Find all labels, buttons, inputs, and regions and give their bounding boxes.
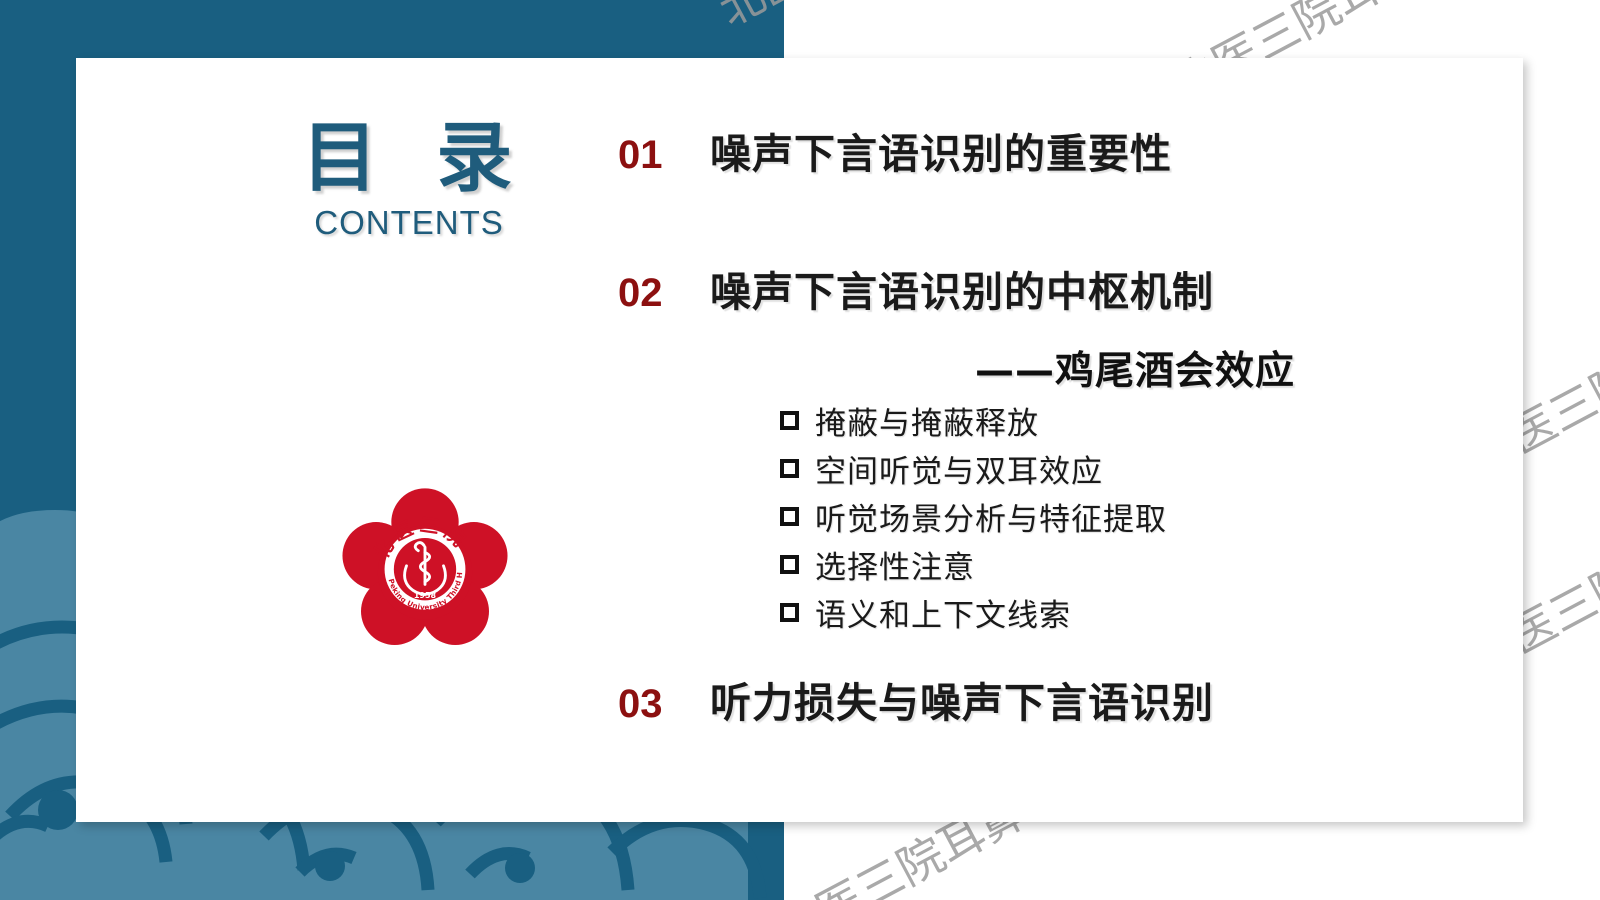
- list-item-label: 掩蔽与掩蔽释放: [815, 398, 1039, 443]
- toc-entry-02-subheading: ——鸡尾酒会效应: [975, 340, 1295, 396]
- toc-entry-number: 03: [618, 682, 710, 727]
- peking-university-third-hospital-logo-icon: 北医三院 Peking University Third Hospital 19…: [340, 485, 510, 645]
- list-item[interactable]: 掩蔽与掩蔽释放: [780, 396, 1167, 444]
- square-bullet-icon: [780, 603, 799, 622]
- list-item-label: 语义和上下文线索: [815, 590, 1071, 635]
- square-bullet-icon: [780, 459, 799, 478]
- square-bullet-icon: [780, 507, 799, 526]
- square-bullet-icon: [780, 411, 799, 430]
- page-subtitle: CONTENTS: [264, 204, 554, 242]
- list-item-label: 空间听觉与双耳效应: [815, 446, 1103, 491]
- square-bullet-icon: [780, 555, 799, 574]
- toc-entry-01[interactable]: 01 噪声下言语识别的重要性: [618, 120, 1172, 180]
- list-item[interactable]: 语义和上下文线索: [780, 588, 1167, 636]
- presentation-slide: 北医三院耳鼻喉科 北医三院耳鼻喉科 北医三院耳鼻喉科 北医三院耳鼻喉科 北医三院…: [0, 0, 1600, 900]
- toc-entry-label: 噪声下言语识别的中枢机制: [710, 258, 1214, 318]
- list-item-label: 听觉场景分析与特征提取: [815, 494, 1167, 539]
- toc-entry-number: 01: [618, 133, 710, 178]
- list-item[interactable]: 听觉场景分析与特征提取: [780, 492, 1167, 540]
- list-item-label: 选择性注意: [815, 542, 975, 587]
- toc-heading-block: 目 录 CONTENTS: [264, 118, 554, 242]
- list-item[interactable]: 选择性注意: [780, 540, 1167, 588]
- logo-year: 1958: [414, 591, 437, 600]
- hospital-logo: 北医三院 Peking University Third Hospital 19…: [340, 485, 510, 645]
- toc-entry-03[interactable]: 03 听力损失与噪声下言语识别: [618, 669, 1214, 729]
- toc-entry-number: 02: [618, 271, 710, 316]
- toc-entry-label: 噪声下言语识别的重要性: [710, 120, 1172, 180]
- toc-entry-02[interactable]: 02 噪声下言语识别的中枢机制: [618, 258, 1214, 318]
- list-item[interactable]: 空间听觉与双耳效应: [780, 444, 1167, 492]
- toc-entry-02-sublist: 掩蔽与掩蔽释放 空间听觉与双耳效应 听觉场景分析与特征提取 选择性注意 语义和上…: [780, 396, 1167, 636]
- toc-entry-label: 听力损失与噪声下言语识别: [710, 669, 1214, 729]
- page-title: 目 录: [276, 118, 554, 198]
